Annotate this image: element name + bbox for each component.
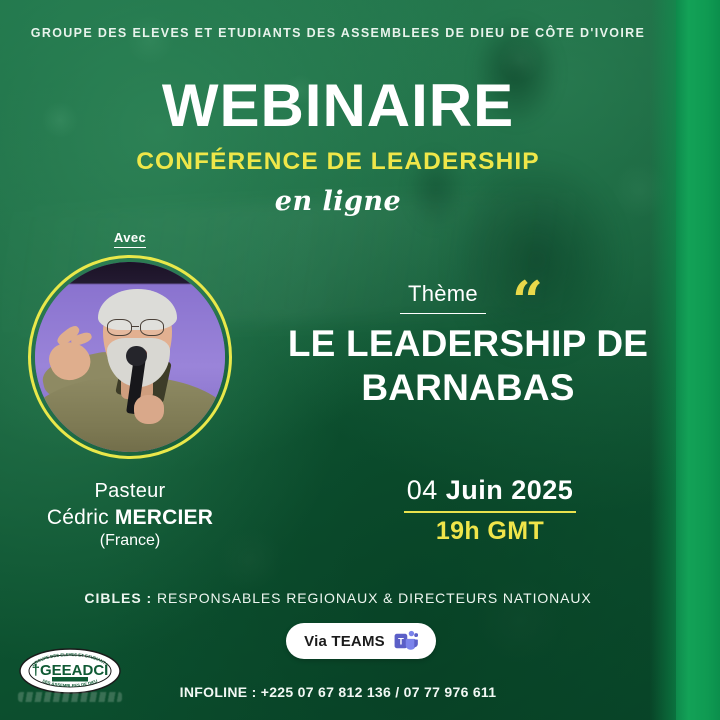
via-teams-button[interactable]: Via TEAMS T (286, 623, 436, 659)
with-label: Avec (0, 230, 260, 245)
speaker-last-name: MERCIER (115, 506, 213, 529)
speaker-photo-ring (28, 255, 232, 459)
theme-title-line-2: BARNABAS (258, 366, 678, 410)
event-month-year: Juin 2025 (446, 475, 574, 505)
online-tag: en ligne (0, 186, 676, 217)
theme-label: Thème (400, 281, 486, 314)
page-title: WEBINAIRE (0, 76, 676, 136)
svg-text:T: T (398, 636, 404, 646)
theme-title-line-1: LE LEADERSHIP DE (258, 322, 678, 366)
speaker-country: (France) (0, 532, 260, 550)
webinar-poster: GROUPE DES ELEVES ET ETUDIANTS DES ASSEM… (0, 0, 720, 720)
microsoft-teams-icon: T (394, 630, 418, 652)
organization-name: GROUPE DES ELEVES ET ETUDIANTS DES ASSEM… (0, 26, 676, 40)
target-audience-value: RESPONSABLES REGIONAUX & DIRECTEURS NATI… (152, 590, 591, 606)
title-block: WEBINAIRE CONFÉRENCE DE LEADERSHIP en li… (0, 76, 676, 217)
quote-icon: “ (512, 288, 540, 315)
via-teams-label: Via TEAMS (304, 633, 385, 650)
speaker-photo (35, 262, 225, 452)
speaker-name: Cédric MERCIER (0, 506, 260, 530)
event-time: 19h GMT (340, 517, 640, 546)
svg-text:†GEEADCI: †GEEADCI (32, 662, 109, 679)
theme-row: Thème “ (270, 280, 670, 315)
target-audience-label: CIBLES : (84, 590, 152, 606)
event-date: 04 Juin 2025 (340, 475, 640, 506)
target-audience: CIBLES : RESPONSABLES REGIONAUX & DIRECT… (0, 590, 676, 606)
speaker-role: Pasteur (0, 480, 260, 503)
subtitle: CONFÉRENCE DE LEADERSHIP (0, 148, 676, 176)
speaker-first-name: Cédric (47, 506, 115, 529)
theme-title: LE LEADERSHIP DE BARNABAS (258, 322, 678, 409)
date-divider (404, 511, 576, 513)
event-day: 04 (407, 475, 446, 505)
infoline: INFOLINE : +225 07 67 812 136 / 07 77 97… (0, 684, 676, 700)
